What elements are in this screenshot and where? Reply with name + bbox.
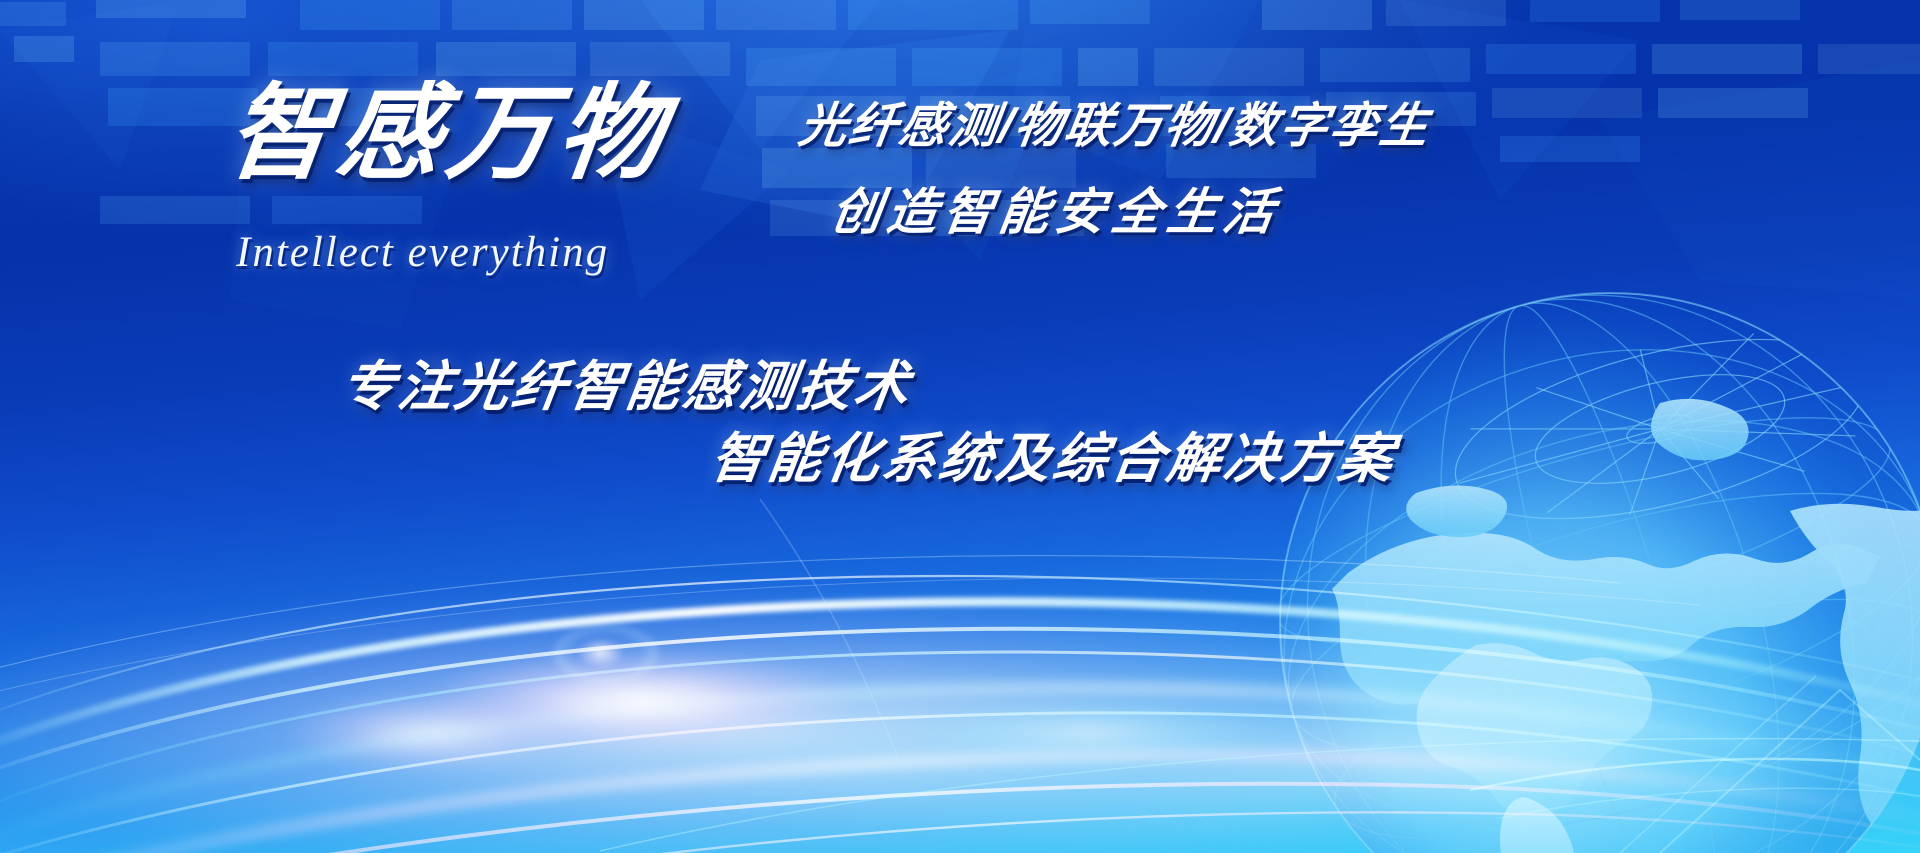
pitch-line-1: 专注光纤智能感测技术	[336, 342, 917, 421]
page-title: 智感万物	[222, 82, 675, 186]
pitch-line-2: 智能化系统及综合解决方案	[706, 414, 1401, 493]
tagline-line-2: 创造智能安全生活	[827, 172, 1285, 244]
banner-text-layer: 智感万物 Intellect everything 光纤感测/物联万物/数字孪生…	[0, 0, 1920, 853]
marketing-banner: 智感万物 Intellect everything 光纤感测/物联万物/数字孪生…	[0, 0, 1920, 853]
english-subtitle: Intellect everything	[236, 228, 609, 277]
tagline-line-1: 光纤感测/物联万物/数字孪生	[795, 86, 1436, 156]
